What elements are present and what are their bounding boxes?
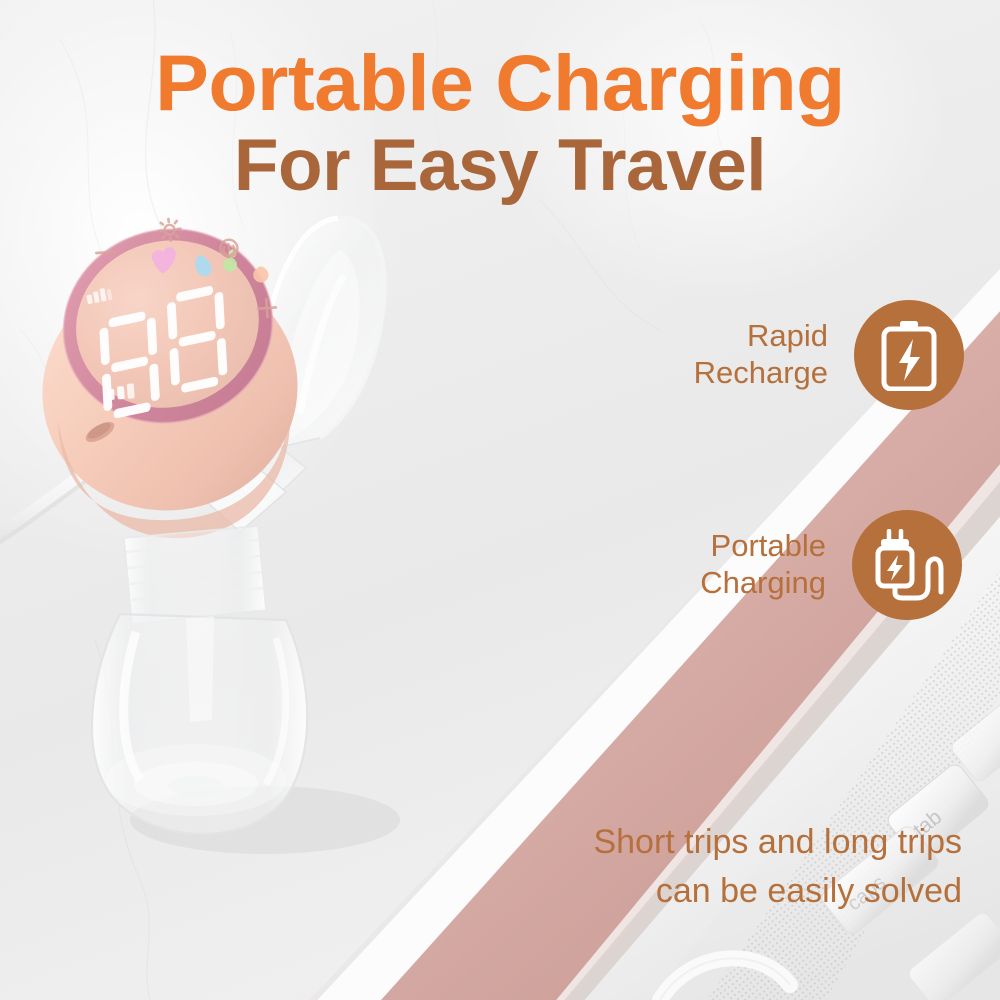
bottom-caption: Short trips and long trips can be easily… bbox=[593, 818, 962, 915]
product-marketing-image: tab caps bbox=[0, 0, 1000, 1000]
battery-bolt-icon bbox=[875, 319, 943, 391]
headline-line-1: Portable Charging bbox=[0, 46, 1000, 120]
feature-portable-charging-label: Portable Charging bbox=[700, 528, 826, 601]
feature-rapid-recharge-icon-circle bbox=[854, 300, 964, 410]
headline-line-2: For Easy Travel bbox=[0, 129, 1000, 202]
power-bank-cable-icon bbox=[870, 529, 944, 601]
feature-portable-charging-icon-circle bbox=[852, 510, 962, 620]
feature-rapid-recharge: Rapid Recharge bbox=[694, 300, 964, 410]
minus-icon bbox=[96, 252, 114, 253]
headline: Portable Charging For Easy Travel bbox=[0, 46, 1000, 202]
clear-milk-bottle bbox=[92, 526, 307, 834]
feature-rapid-recharge-label: Rapid Recharge bbox=[694, 318, 828, 391]
electric-breast-pump bbox=[0, 200, 620, 1000]
feature-portable-charging: Portable Charging bbox=[700, 510, 962, 620]
